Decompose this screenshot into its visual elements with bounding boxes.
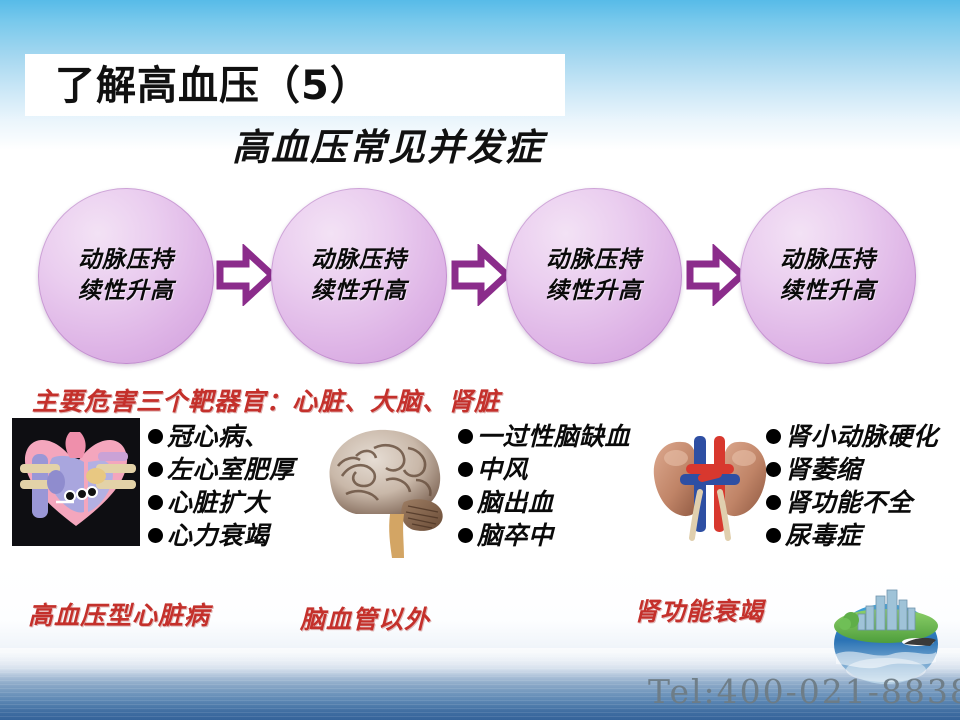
flow-node-3-line2: 续性升高: [546, 276, 642, 307]
kidney-caption: 肾功能衰竭: [634, 592, 764, 628]
slide-canvas: 了解高血压（5） 高血压常见并发症 动脉压持 续性升高 动脉压持 续性升高 动脉…: [0, 0, 960, 720]
list-item-label: 中风: [477, 453, 528, 486]
list-item: 尿毒症: [766, 519, 938, 552]
flow-node-1[interactable]: 动脉压持 续性升高: [38, 188, 214, 364]
flow-node-3-label: 动脉压持 续性升高: [546, 245, 642, 307]
bullet-dot-icon: [766, 462, 781, 477]
list-item: 左心室肥厚: [148, 453, 295, 486]
list-item: 冠心病、: [148, 420, 295, 453]
list-item-label: 脑出血: [477, 486, 554, 519]
list-item: 肾功能不全: [766, 486, 938, 519]
brain-anatomy-image: [316, 418, 456, 558]
flow-node-4[interactable]: 动脉压持 续性升高: [740, 188, 916, 364]
list-item-label: 尿毒症: [785, 519, 862, 552]
flow-node-1-label: 动脉压持 续性升高: [78, 245, 174, 307]
bullet-dot-icon: [148, 528, 163, 543]
flow-node-2-line2: 续性升高: [311, 276, 407, 307]
list-item-label: 肾萎缩: [785, 453, 862, 486]
bullet-dot-icon: [458, 495, 473, 510]
flow-node-3[interactable]: 动脉压持 续性升高: [506, 188, 682, 364]
list-item-label: 左心室肥厚: [167, 453, 295, 486]
bullet-dot-icon: [458, 429, 473, 444]
brain-caption: 脑血管以外: [300, 600, 430, 636]
list-item: 心力衰竭: [148, 519, 295, 552]
list-item: 脑出血: [458, 486, 630, 519]
arrow-right-icon-2: [451, 244, 511, 306]
list-item: 肾小动脉硬化: [766, 420, 938, 453]
heart-anatomy-image: [12, 418, 140, 546]
page-subtitle: 高血压常见并发症: [232, 126, 712, 170]
list-item-label: 肾功能不全: [785, 486, 913, 519]
flow-node-4-line2: 续性升高: [780, 276, 876, 307]
bullet-dot-icon: [766, 528, 781, 543]
list-item: 一过性脑缺血: [458, 420, 630, 453]
flow-node-2[interactable]: 动脉压持 续性升高: [271, 188, 447, 364]
flow-node-1-line1: 动脉压持: [78, 245, 174, 276]
list-item: 脑卒中: [458, 519, 630, 552]
kidney-bullet-list: 肾小动脉硬化 肾萎缩 肾功能不全 尿毒症: [766, 420, 938, 552]
bullet-dot-icon: [458, 462, 473, 477]
list-item-label: 肾小动脉硬化: [785, 420, 938, 453]
target-organs-heading: 主要危害三个靶器官：心脏、大脑、肾脏: [32, 382, 500, 418]
flow-node-2-line1: 动脉压持: [311, 245, 407, 276]
heart-bullet-list: 冠心病、 左心室肥厚 心脏扩大 心力衰竭: [148, 420, 295, 552]
list-item-label: 一过性脑缺血: [477, 420, 630, 453]
list-item-label: 心脏扩大: [167, 486, 269, 519]
list-item-label: 冠心病、: [167, 420, 269, 453]
arrow-right-icon-3: [686, 244, 746, 306]
contact-phone: Tel:400-021-8838: [648, 672, 960, 711]
kidney-anatomy-image: [646, 418, 774, 553]
bullet-dot-icon: [148, 429, 163, 444]
list-item: 心脏扩大: [148, 486, 295, 519]
flow-node-4-label: 动脉压持 续性升高: [780, 245, 876, 307]
flow-node-4-line1: 动脉压持: [780, 245, 876, 276]
list-item: 中风: [458, 453, 630, 486]
flow-node-2-label: 动脉压持 续性升高: [311, 245, 407, 307]
list-item-label: 心力衰竭: [167, 519, 269, 552]
brain-bullet-list: 一过性脑缺血 中风 脑出血 脑卒中: [458, 420, 630, 552]
arrow-right-icon-1: [216, 244, 276, 306]
flow-diagram: 动脉压持 续性升高 动脉压持 续性升高 动脉压持 续性升高: [0, 188, 960, 370]
bullet-dot-icon: [148, 462, 163, 477]
heart-caption: 高血压型心脏病: [28, 596, 210, 632]
bullet-dot-icon: [148, 495, 163, 510]
list-item: 肾萎缩: [766, 453, 938, 486]
bullet-dot-icon: [766, 495, 781, 510]
bullet-dot-icon: [766, 429, 781, 444]
flow-node-3-line1: 动脉压持: [546, 245, 642, 276]
bullet-dot-icon: [458, 528, 473, 543]
flow-node-1-line2: 续性升高: [78, 276, 174, 307]
organ-sections: 冠心病、 左心室肥厚 心脏扩大 心力衰竭: [0, 418, 960, 578]
page-title: 了解高血压（5）: [55, 58, 575, 114]
list-item-label: 脑卒中: [477, 519, 554, 552]
